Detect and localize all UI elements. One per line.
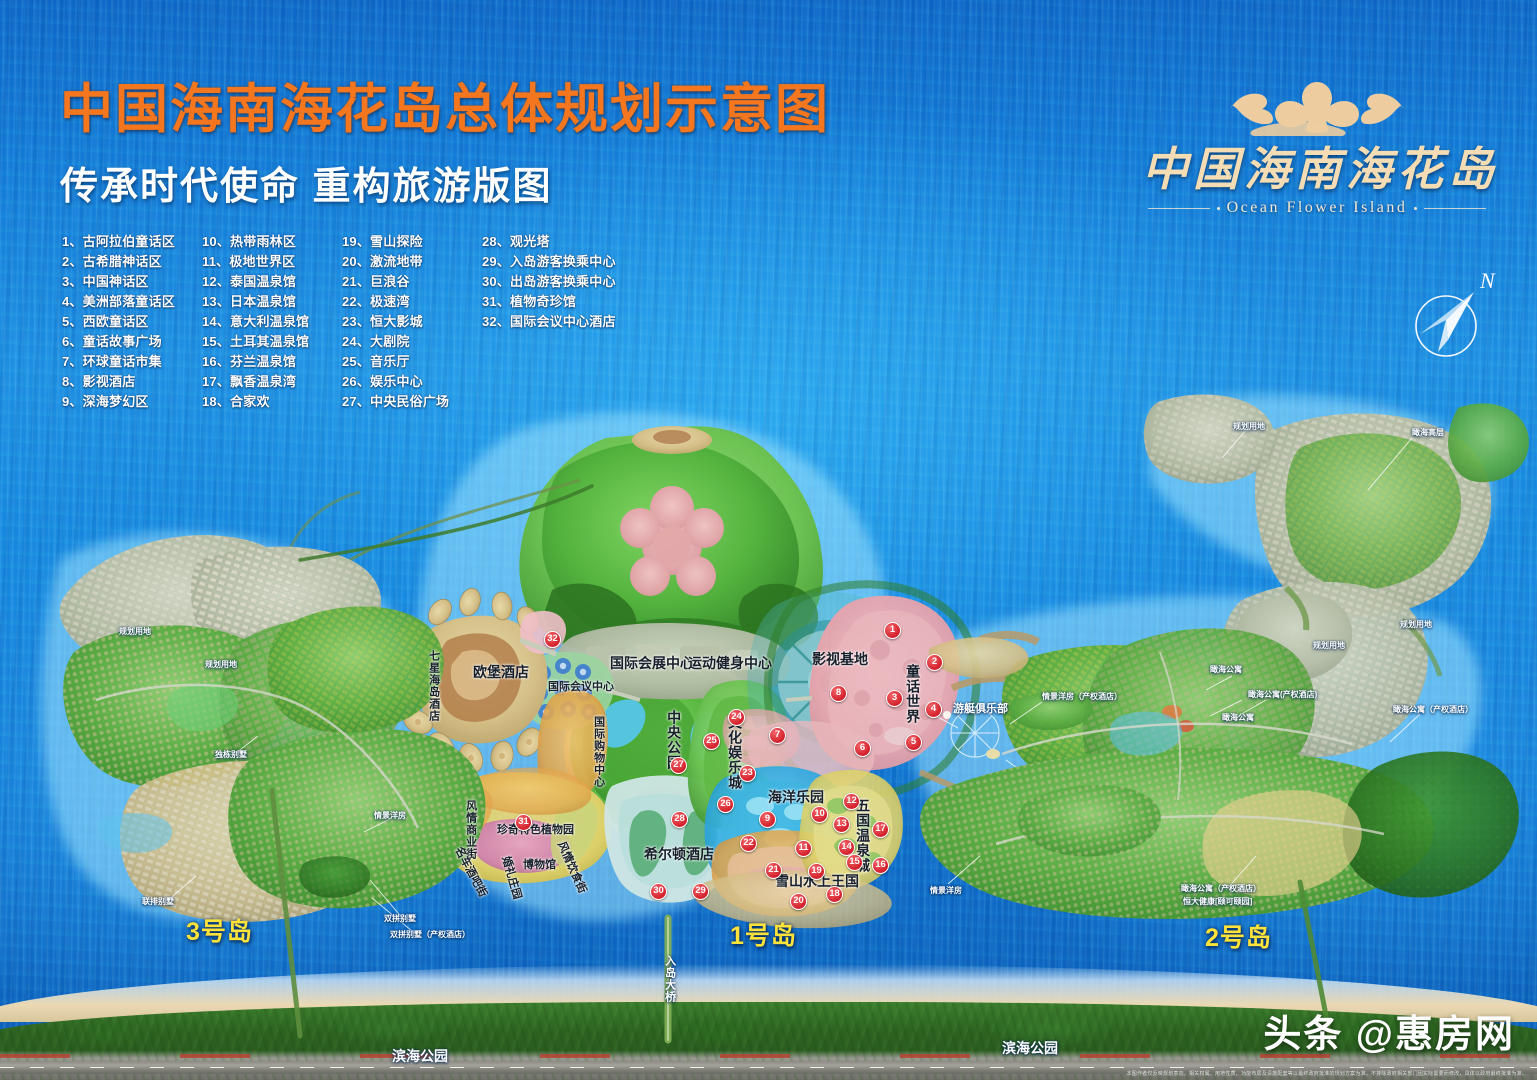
map-marker[interactable]: 4 — [925, 701, 942, 718]
map-marker[interactable]: 13 — [833, 816, 850, 833]
legend-item: 5、西欧童话区 — [62, 312, 202, 332]
poster-header: 中国海南海花岛总体规划示意图 传承时代使命 重构旅游版图 — [60, 82, 830, 210]
brand-logo: 中国海南海花岛 Ocean Flower Island — [1142, 76, 1492, 217]
legend-item: 20、激流地带 — [342, 252, 482, 272]
logo-dot-right — [1414, 207, 1417, 210]
disclaimer-fineprint: 本图作者仅反映规划意向，相关权属、用地性质、功能布局及设施配套等以最终政府批准的… — [1127, 1070, 1527, 1077]
map-marker[interactable]: 7 — [769, 727, 786, 744]
map-marker[interactable]: 17 — [872, 821, 889, 838]
legend-item: 11、极地世界区 — [202, 252, 342, 272]
page-title: 中国海南海花岛总体规划示意图 — [60, 82, 830, 138]
map-marker[interactable]: 9 — [759, 811, 776, 828]
map-marker[interactable]: 1 — [884, 622, 901, 639]
legend-item: 15、土耳其温泉馆 — [202, 332, 342, 352]
map-marker[interactable]: 21 — [765, 862, 782, 879]
legend-item: 2、古希腊神话区 — [62, 252, 202, 272]
legend-item: 21、巨浪谷 — [342, 272, 482, 292]
map-marker[interactable]: 26 — [717, 796, 734, 813]
compass-rose-icon: N — [1398, 262, 1508, 367]
legend-item: 17、飘香温泉湾 — [202, 372, 342, 392]
island-name-2: 2号岛 — [1205, 918, 1272, 954]
logo-english-row: Ocean Flower Island — [1142, 199, 1492, 217]
map-marker[interactable]: 20 — [790, 893, 807, 910]
legend-column-1: 1、古阿拉伯童话区 2、古希腊神话区 3、中国神话区 4、美洲部落童话区 5、西… — [62, 232, 202, 412]
map-marker[interactable]: 8 — [830, 685, 847, 702]
page-subtitle: 传承时代使命 重构旅游版图 — [60, 155, 830, 210]
legend-item: 25、音乐厅 — [342, 352, 482, 372]
legend-item: 14、意大利温泉馆 — [202, 312, 342, 332]
legend-item: 30、出岛游客换乘中心 — [482, 272, 652, 292]
legend-item: 18、合家欢 — [202, 392, 342, 412]
legend-column-2: 10、热带雨林区 11、极地世界区 12、泰国温泉馆 13、日本温泉馆 14、意… — [202, 232, 342, 412]
map-marker[interactable]: 12 — [843, 793, 860, 810]
map-marker[interactable]: 30 — [650, 883, 667, 900]
legend-item: 28、观光塔 — [482, 232, 652, 252]
map-marker[interactable]: 19 — [808, 863, 825, 880]
map-marker[interactable]: 16 — [872, 857, 889, 874]
logo-chinese-name: 中国海南海花岛 — [1142, 146, 1492, 194]
legend-column-4: 28、观光塔 29、入岛游客换乘中心 30、出岛游客换乘中心 31、植物奇珍馆 … — [482, 232, 652, 412]
map-marker[interactable]: 28 — [671, 811, 688, 828]
legend-item: 1、古阿拉伯童话区 — [62, 232, 202, 252]
legend-item: 6、童话故事广场 — [62, 332, 202, 352]
map-marker[interactable]: 27 — [670, 757, 687, 774]
legend-item: 19、雪山探险 — [342, 232, 482, 252]
map-marker[interactable]: 24 — [728, 709, 745, 726]
map-marker[interactable]: 15 — [846, 854, 863, 871]
legend-item: 9、深海梦幻区 — [62, 392, 202, 412]
map-poster: 中国海南海花岛总体规划示意图 传承时代使命 重构旅游版图 1、古阿拉伯童话区 2… — [0, 0, 1537, 1080]
logo-english-name: Ocean Flower Island — [1227, 199, 1408, 217]
map-marker[interactable]: 18 — [826, 886, 843, 903]
legend-item: 16、芬兰温泉馆 — [202, 352, 342, 372]
legend-item: 23、恒大影城 — [342, 312, 482, 332]
legend-item: 22、极速湾 — [342, 292, 482, 312]
legend-list: 1、古阿拉伯童话区 2、古希腊神话区 3、中国神话区 4、美洲部落童话区 5、西… — [62, 232, 652, 412]
map-marker[interactable]: 10 — [811, 806, 828, 823]
ocean-flower-mark-icon — [1142, 76, 1492, 144]
legend-item: 4、美洲部落童话区 — [62, 292, 202, 312]
legend-item: 7、环球童话市集 — [62, 352, 202, 372]
map-marker[interactable]: 23 — [739, 765, 756, 782]
logo-rule-left — [1148, 208, 1210, 209]
map-marker[interactable]: 32 — [544, 631, 561, 648]
map-marker[interactable]: 22 — [740, 835, 757, 852]
map-marker[interactable]: 6 — [854, 740, 871, 757]
watermark: 头条 @惠房网 — [1263, 1003, 1515, 1058]
map-marker[interactable]: 3 — [886, 690, 903, 707]
legend-item: 13、日本温泉馆 — [202, 292, 342, 312]
legend-item: 29、入岛游客换乘中心 — [482, 252, 652, 272]
map-marker[interactable]: 25 — [703, 733, 720, 750]
map-marker[interactable]: 11 — [795, 840, 812, 857]
legend-column-3: 19、雪山探险 20、激流地带 21、巨浪谷 22、极速湾 23、恒大影城 24… — [342, 232, 482, 412]
legend-item: 8、影视酒店 — [62, 372, 202, 392]
island-name-1: 1号岛 — [730, 916, 797, 952]
map-marker[interactable]: 2 — [926, 654, 943, 671]
map-marker[interactable]: 31 — [515, 814, 532, 831]
legend-item: 10、热带雨林区 — [202, 232, 342, 252]
logo-dot-left — [1217, 207, 1220, 210]
legend-item: 26、娱乐中心 — [342, 372, 482, 392]
legend-item: 3、中国神话区 — [62, 272, 202, 292]
map-marker[interactable]: 5 — [905, 734, 922, 751]
legend-item: 24、大剧院 — [342, 332, 482, 352]
island-name-3: 3号岛 — [186, 912, 253, 948]
legend-item: 31、植物奇珍馆 — [482, 292, 652, 312]
legend-item: 32、国际会议中心酒店 — [482, 312, 652, 332]
compass-north-label: N — [1479, 268, 1496, 293]
logo-rule-right — [1424, 208, 1486, 209]
legend-item: 12、泰国温泉馆 — [202, 272, 342, 292]
legend-item: 27、中央民俗广场 — [342, 392, 482, 412]
map-marker[interactable]: 29 — [692, 883, 709, 900]
